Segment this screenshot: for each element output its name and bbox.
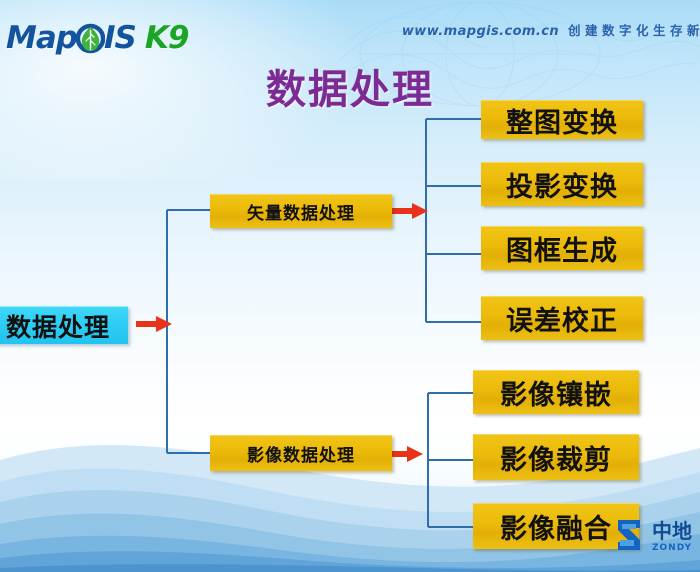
node-leaf-image-fusion-label: 影像融合 [500, 507, 612, 546]
zondy-logo-cn: 中地 [652, 519, 692, 543]
node-leaf-projection-transform-label: 投影变换 [506, 165, 618, 204]
node-leaf-error-correction-label: 误差校正 [506, 299, 618, 338]
node-leaf-image-mosaic-label: 影像镶嵌 [500, 373, 612, 412]
node-leaf-image-clip-label: 影像裁剪 [500, 438, 612, 477]
arrow-group [136, 203, 428, 462]
node-leaf-frame-generation[interactable]: 图框生成 [481, 226, 643, 270]
arrow-vector-to-children [392, 203, 428, 219]
node-leaf-image-mosaic[interactable]: 影像镶嵌 [473, 370, 639, 414]
node-branch-image[interactable]: 影像数据处理 [210, 435, 392, 471]
node-branch-image-label: 影像数据处理 [247, 441, 355, 466]
node-leaf-frame-generation-label: 图框生成 [506, 229, 618, 268]
node-leaf-image-clip[interactable]: 影像裁剪 [473, 434, 639, 480]
node-root-label: 数据处理 [6, 308, 110, 344]
node-leaf-error-correction[interactable]: 误差校正 [481, 296, 643, 340]
connector-lines [0, 0, 700, 572]
flow-diagram: 数据处理 矢量数据处理 影像数据处理 整图变换 投影变换 图框生成 误差校正 影… [0, 0, 700, 572]
zondy-mark-icon [618, 520, 640, 550]
zondy-logo-en: ZONDY [652, 543, 692, 553]
node-branch-vector-label: 矢量数据处理 [247, 199, 355, 224]
arrow-root-to-branches [136, 316, 172, 332]
node-root[interactable]: 数据处理 [0, 306, 128, 344]
zondy-logo: 中地 ZONDY [610, 510, 700, 566]
node-leaf-whole-map-transform-label: 整图变换 [506, 101, 618, 140]
arrow-image-to-children [387, 446, 423, 462]
node-branch-vector[interactable]: 矢量数据处理 [210, 194, 392, 228]
node-leaf-whole-map-transform[interactable]: 整图变换 [481, 100, 643, 139]
node-leaf-projection-transform[interactable]: 投影变换 [481, 162, 643, 206]
slide-canvas: Map IS K9 www.mapgis.com.cn 创建数字化生存新 数据处… [0, 0, 700, 572]
